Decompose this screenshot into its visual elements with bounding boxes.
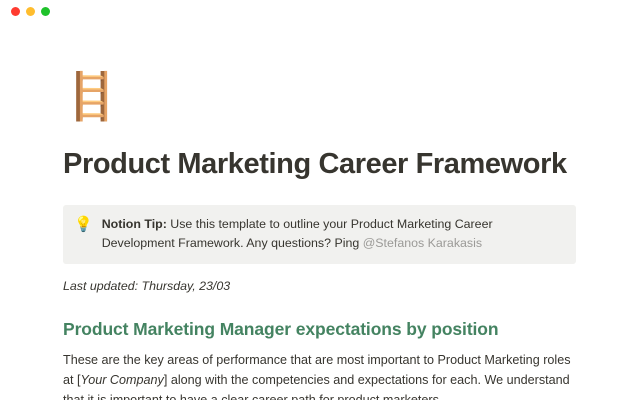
callout-text: Notion Tip: Use this template to outline… — [102, 215, 562, 253]
intro-paragraph: These are the key areas of performance t… — [63, 350, 573, 400]
window-title-bar — [0, 0, 640, 22]
page-title[interactable]: Product Marketing Career Framework — [63, 148, 576, 181]
notion-tip-callout[interactable]: 💡 Notion Tip: Use this template to outli… — [63, 205, 576, 264]
callout-label: Notion Tip: — [102, 217, 167, 231]
paragraph-placeholder-company: Your Company — [81, 373, 164, 387]
last-updated-text: Last updated: Thursday, 23/03 — [63, 277, 576, 296]
section-heading[interactable]: Product Marketing Manager expectations b… — [63, 318, 576, 341]
window-maximize-button[interactable] — [41, 7, 50, 16]
window-minimize-button[interactable] — [26, 7, 35, 16]
window-close-button[interactable] — [11, 7, 20, 16]
document-page: 🪜 Product Marketing Career Framework 💡 N… — [0, 22, 640, 400]
ladder-emoji[interactable]: 🪜 — [63, 70, 115, 122]
user-mention[interactable]: @Stefanos Karakasis — [363, 236, 482, 250]
lightbulb-emoji: 💡 — [74, 215, 93, 234]
